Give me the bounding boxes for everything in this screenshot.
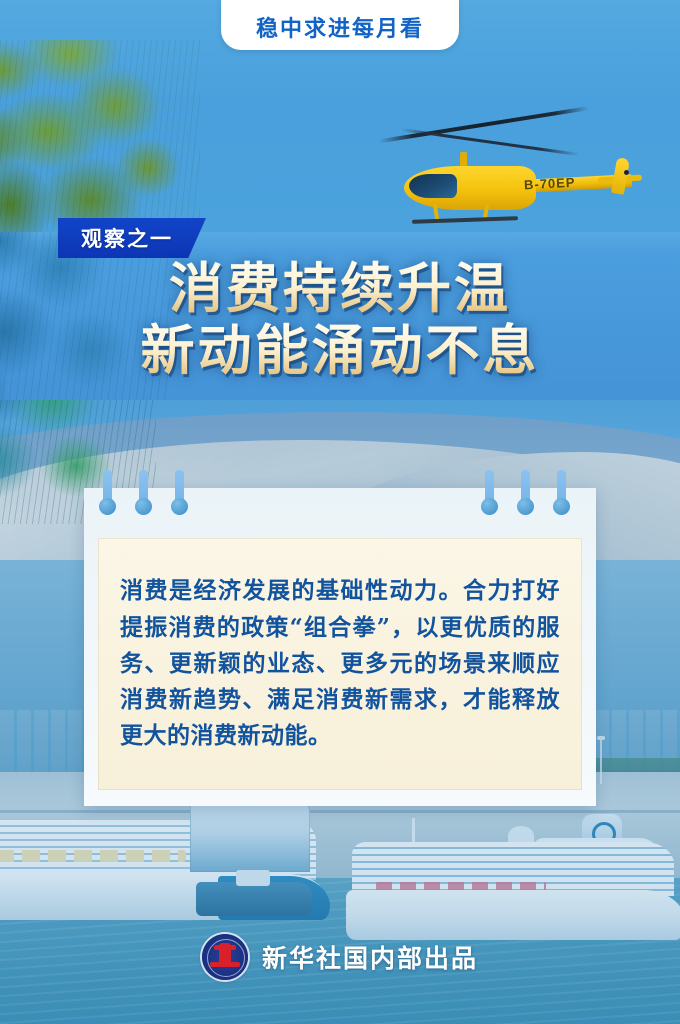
willow-tree-foliage	[0, 40, 200, 232]
top-badge: 稳中求进每月看	[221, 0, 459, 50]
top-badge-label: 稳中求进每月看	[256, 7, 424, 43]
helicopter-main-rotor	[379, 106, 589, 143]
helicopter-landing-skid	[412, 216, 518, 224]
cruise-ship-left-superstructure	[190, 796, 310, 872]
footer: 新华社国内部出品	[0, 934, 680, 980]
notepad-ring-knob	[517, 498, 534, 515]
footer-credit-text: 新华社国内部出品	[262, 939, 478, 975]
observation-tag-label: 观察之一	[81, 223, 183, 253]
emblem-base-shape	[210, 962, 240, 967]
cruise-ship-left-lifeboats	[0, 850, 186, 862]
helicopter-cockpit-window	[409, 174, 457, 198]
cruise-ship-right	[346, 818, 680, 940]
note-card-body-text: 消费是经济发展的基础性动力。合力打好提振消费的政策“组合拳”，以更优质的服务、更…	[98, 573, 582, 755]
note-card: 消费是经济发展的基础性动力。合力打好提振消费的政策“组合拳”，以更优质的服务、更…	[84, 488, 596, 806]
headline: 消费持续升温 新动能涌动不息	[0, 258, 680, 381]
note-card-paper: 消费是经济发展的基础性动力。合力打好提振消费的政策“组合拳”，以更优质的服务、更…	[98, 538, 582, 790]
cruise-ship-right-hull	[346, 890, 680, 940]
notepad-ring-knob	[99, 498, 116, 515]
tugboat	[196, 882, 312, 916]
notepad-ring-knob	[481, 498, 498, 515]
observation-tag: 观察之一	[58, 218, 206, 258]
helicopter-registration-text: B-70EP	[524, 175, 576, 193]
helicopter-tail-rotor	[624, 170, 629, 175]
quay-lamp-post	[600, 740, 602, 784]
helicopter-image: B-70EP	[392, 118, 654, 232]
xinhua-emblem-icon	[202, 934, 248, 980]
poster-root: B-70EP	[0, 0, 680, 1024]
notepad-ring-knob	[135, 498, 152, 515]
notepad-ring-knob	[553, 498, 570, 515]
notepad-ring-knob	[171, 498, 188, 515]
headline-line-1: 消费持续升温	[0, 258, 680, 318]
helicopter-rotor-blade-2	[401, 128, 580, 156]
headline-line-2: 新动能涌动不息	[0, 320, 680, 380]
